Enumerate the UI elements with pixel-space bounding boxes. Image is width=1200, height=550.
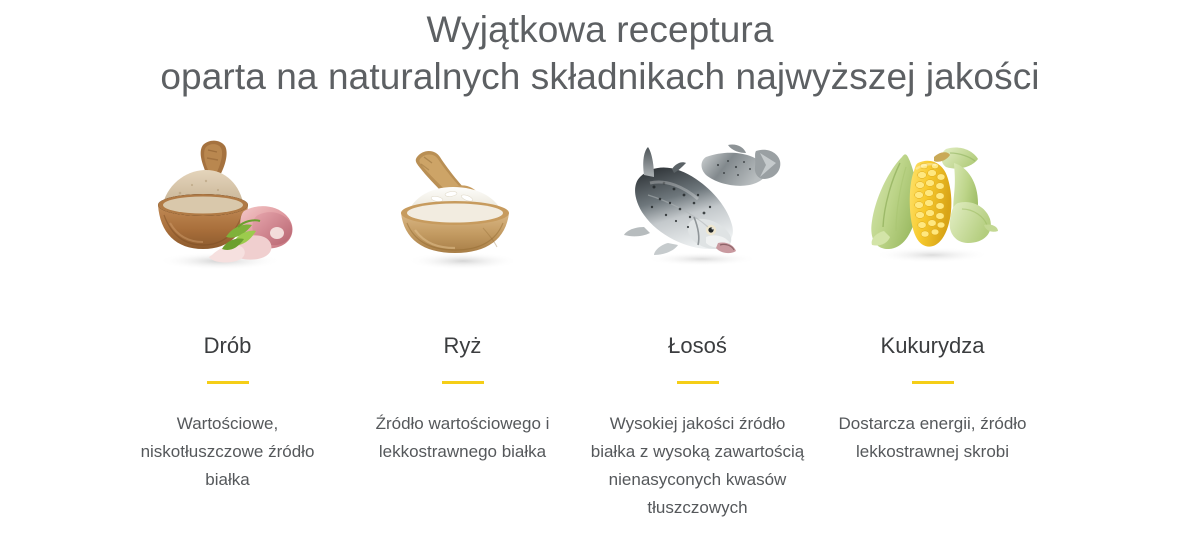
page-title: Wyjątkowa receptura oparta na naturalnyc… [0, 6, 1200, 100]
ingredient-title: Ryż [444, 333, 482, 359]
title-divider [207, 381, 249, 384]
page-title-line-2: oparta na naturalnych składnikach najwyż… [0, 53, 1200, 100]
title-divider [912, 381, 954, 384]
page-title-line-1: Wyjątkowa receptura [0, 6, 1200, 53]
ingredient-title: Łosoś [668, 333, 727, 359]
poultry-bowl-image [138, 128, 318, 273]
ingredient-description: Wysokiej jakości źródło białka z wysoką … [590, 410, 805, 522]
corn-image [843, 128, 1023, 273]
rice-bowl-image [373, 128, 553, 273]
ingredient-title: Kukurydza [881, 333, 985, 359]
ingredient-card-ryz: Ryż Źródło wartościowego i lekkostrawneg… [345, 128, 580, 466]
ingredients-section: Wyjątkowa receptura oparta na naturalnyc… [0, 0, 1200, 550]
ingredient-description: Wartościowe, niskotłuszczowe źródło biał… [120, 410, 335, 494]
ingredient-description: Dostarcza energii, źródło lekkostrawnej … [825, 410, 1040, 466]
ingredient-card-drob: Drób Wartościowe, niskotłuszczowe źródło… [110, 128, 345, 494]
ingredient-card-kukurydza: Kukurydza Dostarcza energii, źródło lekk… [815, 128, 1050, 466]
ingredient-description: Źródło wartościowego i lekkostrawnego bi… [355, 410, 570, 466]
title-divider [677, 381, 719, 384]
ingredient-title: Drób [204, 333, 252, 359]
title-divider [442, 381, 484, 384]
salmon-image [608, 128, 788, 273]
ingredient-card-list: Drób Wartościowe, niskotłuszczowe źródło… [110, 128, 1050, 522]
ingredient-card-losos: Łosoś Wysokiej jakości źródło białka z w… [580, 128, 815, 522]
